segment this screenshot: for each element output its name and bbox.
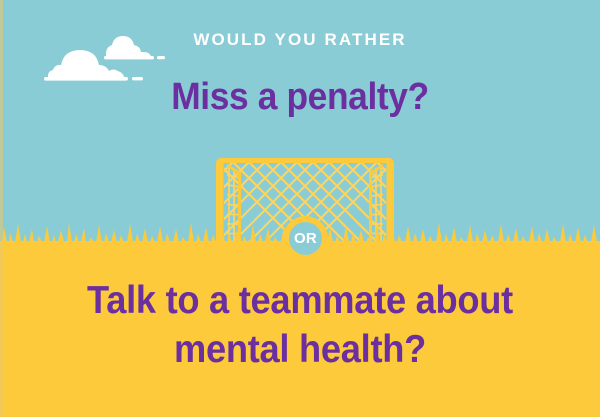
option-b-title: Talk to a teammate about mental health? bbox=[21, 276, 579, 374]
left-edge-sliver bbox=[0, 0, 3, 417]
or-badge-inner: OR bbox=[289, 222, 322, 255]
would-you-rather-poster: WOULD YOU RATHER Miss a penalty? bbox=[0, 0, 600, 417]
or-divider-badge: OR bbox=[283, 216, 328, 261]
option-a-title: Miss a penalty? bbox=[21, 74, 579, 120]
option-b-line-2: mental health? bbox=[21, 325, 579, 374]
or-label: OR bbox=[294, 231, 317, 246]
kicker-text: WOULD YOU RATHER bbox=[0, 29, 600, 51]
option-b-line-1: Talk to a teammate about bbox=[21, 276, 579, 325]
